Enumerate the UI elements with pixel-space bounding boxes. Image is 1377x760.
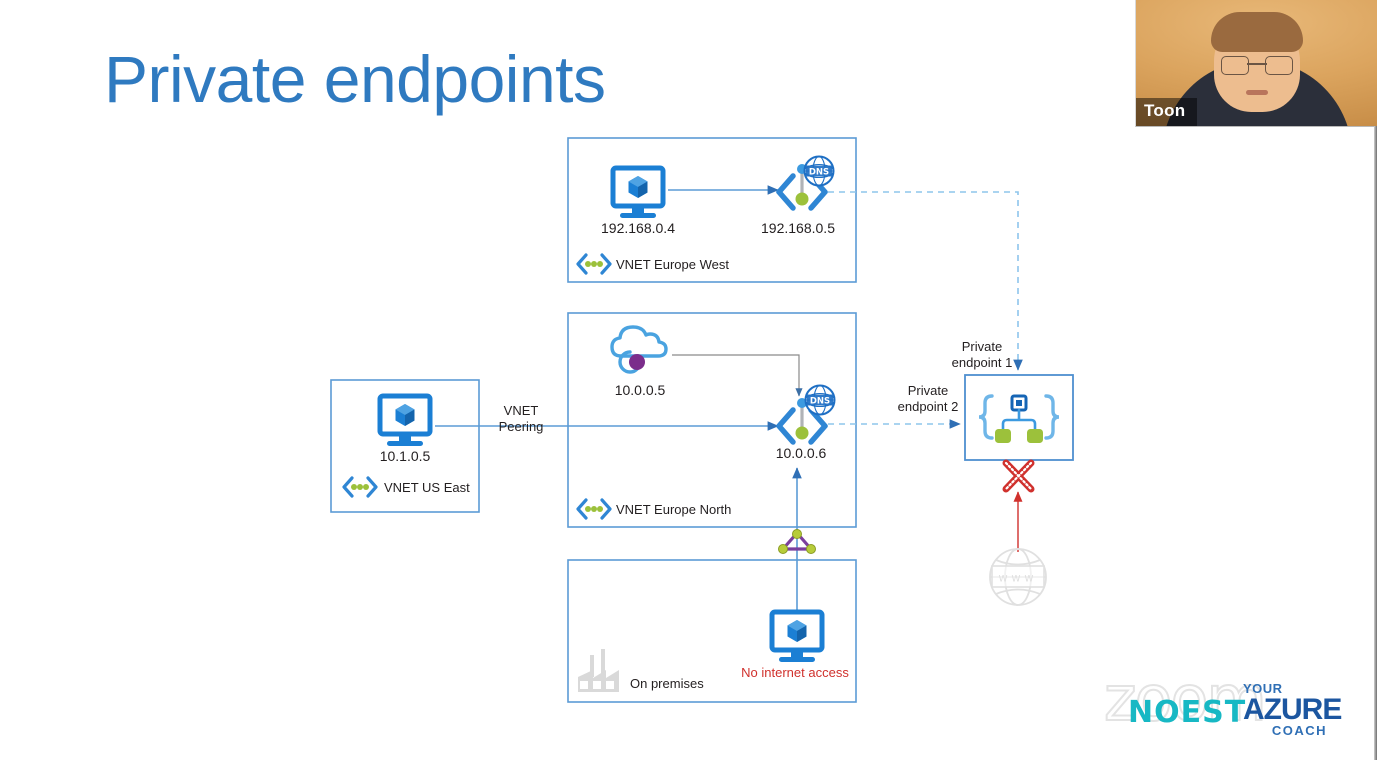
logo-azure-text: AZURE [1243, 695, 1343, 724]
logo-coach-text: COACH [1243, 724, 1327, 738]
label-ip-paas-europe-north: 10.0.0.5 [615, 383, 666, 398]
label-vnet-europe-north: VNET Europe North [616, 502, 731, 517]
internet-globe-icon: WWW [990, 549, 1046, 605]
label-on-premises: On premises [630, 676, 704, 691]
webcam-mouth [1246, 90, 1268, 95]
label-ip-dns-europe-north: 10.0.0.6 [776, 446, 827, 461]
blocked-icon [1006, 463, 1031, 489]
label-private-endpoint-2-line1: Private [908, 383, 948, 398]
label-vnet-us-east: VNET US East [384, 480, 470, 495]
label-vnet-europe-west: VNET Europe West [616, 257, 729, 272]
your-azure-coach-logo: YOUR AZURE COACH [1243, 682, 1343, 738]
label-private-endpoint-1-line1: Private [962, 339, 1002, 354]
label-vnet-peering-line1: VNET [504, 403, 539, 418]
webcam-video-tile[interactable]: Toon [1135, 0, 1377, 127]
label-ip-vm-europe-west: 192.168.0.4 [601, 221, 675, 236]
label-no-internet-access: No internet access [741, 665, 849, 680]
svg-text:DNS: DNS [809, 168, 829, 178]
noest-logo: NOEST [1128, 698, 1246, 728]
label-ip-vm-us-east: 10.1.0.5 [380, 449, 431, 464]
svg-text:WWW: WWW [999, 575, 1038, 585]
dns-badge-icon: DNS [806, 386, 835, 415]
participant-name-label: Toon [1136, 98, 1197, 126]
dns-badge-icon: DNS [805, 157, 834, 186]
svg-text:DNS: DNS [810, 397, 830, 407]
label-private-endpoint-2-line2: endpoint 2 [898, 399, 959, 414]
slide-canvas: Private endpoints [0, 0, 1377, 760]
label-private-endpoint-1-line2: endpoint 1 [952, 355, 1013, 370]
label-ip-dns-europe-west: 192.168.0.5 [761, 221, 835, 236]
label-vnet-peering-line2: Peering [499, 419, 544, 434]
webcam-hair [1211, 12, 1303, 52]
webcam-glasses [1221, 56, 1293, 73]
